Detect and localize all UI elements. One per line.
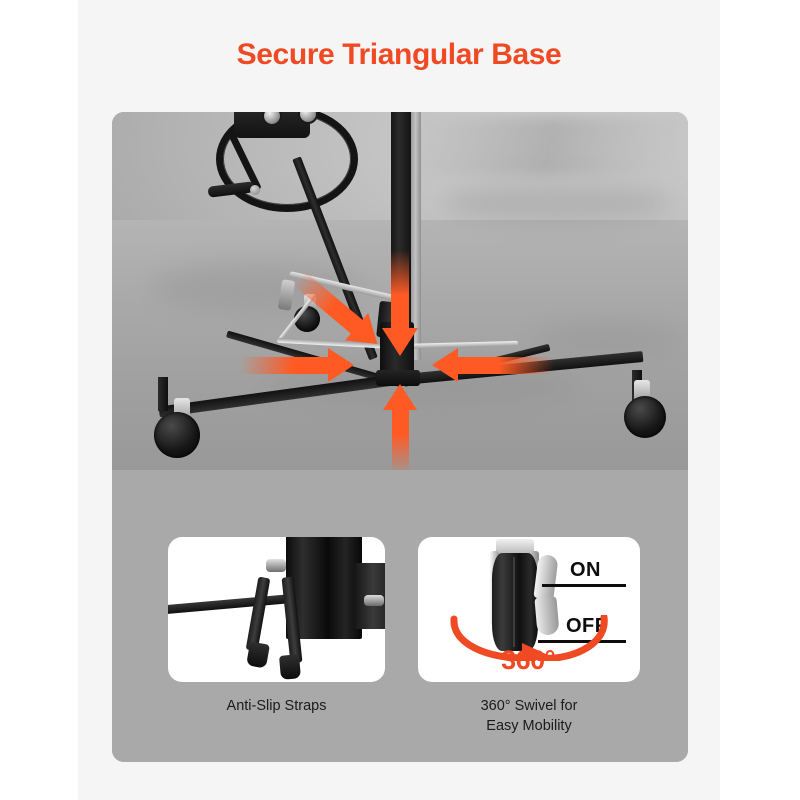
caption-anti-slip-straps: Anti-Slip Straps — [168, 697, 385, 717]
hero-photo — [112, 112, 688, 477]
page-title: Secure Triangular Base — [78, 38, 720, 72]
anti-slip-foot-cap — [246, 641, 270, 668]
inset-anti-slip-straps — [168, 537, 385, 682]
inset-swivel-caster: ON OFF 360° — [418, 537, 640, 682]
anti-slip-foot-cap — [279, 654, 301, 680]
caption-swivel-line-1: 360° Swivel for — [481, 698, 578, 714]
caster-tyre — [624, 396, 666, 438]
floor-smudge — [442, 182, 672, 222]
floor-smudge — [532, 322, 682, 356]
inset-left-leg-a — [246, 577, 271, 652]
caption-swivel-caster: 360° Swivel for Easy Mobility — [418, 697, 640, 736]
rotation-degree-label: 360° — [468, 645, 588, 676]
brake-on-underline — [542, 584, 626, 587]
caption-swivel-line-2: Easy Mobility — [486, 718, 571, 734]
wall-streak — [412, 116, 687, 176]
inset-left-knob — [364, 595, 384, 606]
hero-image-card: ON OFF 360° Anti-Slip Straps 360° Swivel… — [112, 112, 688, 762]
brake-on-label: ON — [570, 559, 601, 582]
brake-lever-on — [533, 554, 558, 600]
handwheel-handle-cap — [250, 185, 260, 195]
product-feature-page: Secure Triangular Base — [0, 0, 800, 800]
inset-left-knob — [266, 559, 286, 572]
base-leg-left-end — [158, 377, 168, 411]
caster-tyre — [154, 412, 200, 458]
